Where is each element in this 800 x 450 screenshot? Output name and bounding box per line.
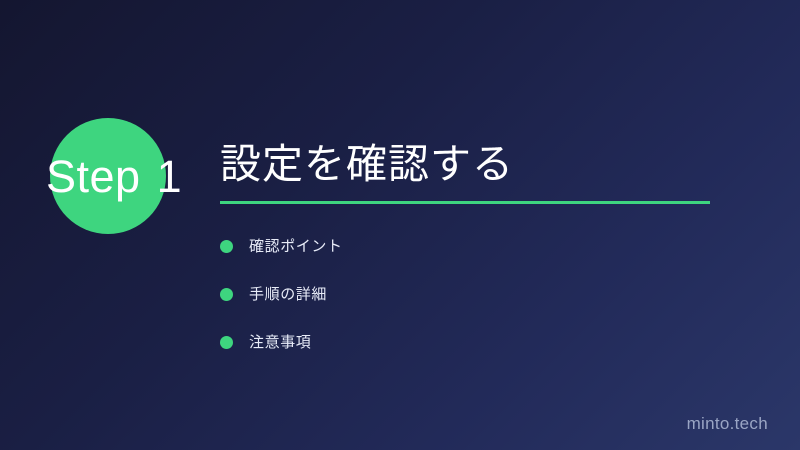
bullet-dot-icon (220, 336, 233, 349)
list-item: 手順の詳細 (220, 271, 760, 319)
list-item: 確認ポイント (220, 223, 760, 271)
bullet-dot-icon (220, 288, 233, 301)
content-column: 設定を確認する 確認ポイント 手順の詳細 注意事項 (220, 142, 760, 367)
bullet-item-label: 注意事項 (249, 335, 311, 350)
title-underline-divider (220, 201, 710, 204)
bullet-item-label: 確認ポイント (249, 239, 343, 254)
slide-title: 設定を確認する (220, 142, 760, 188)
slide-canvas: Step 1 設定を確認する 確認ポイント 手順の詳細 注意事項 minto.t… (0, 0, 800, 450)
step-badge: Step 1 (0, 118, 210, 234)
list-item: 注意事項 (220, 319, 760, 367)
bullet-list: 確認ポイント 手順の詳細 注意事項 (220, 223, 760, 367)
watermark-brand: minto.tech (687, 415, 768, 432)
step-number-text: 1 (157, 154, 183, 199)
step-word-text: Step (46, 154, 141, 199)
step-label: Step 1 (46, 118, 182, 234)
bullet-dot-icon (220, 240, 233, 253)
bullet-item-label: 手順の詳細 (249, 287, 327, 302)
